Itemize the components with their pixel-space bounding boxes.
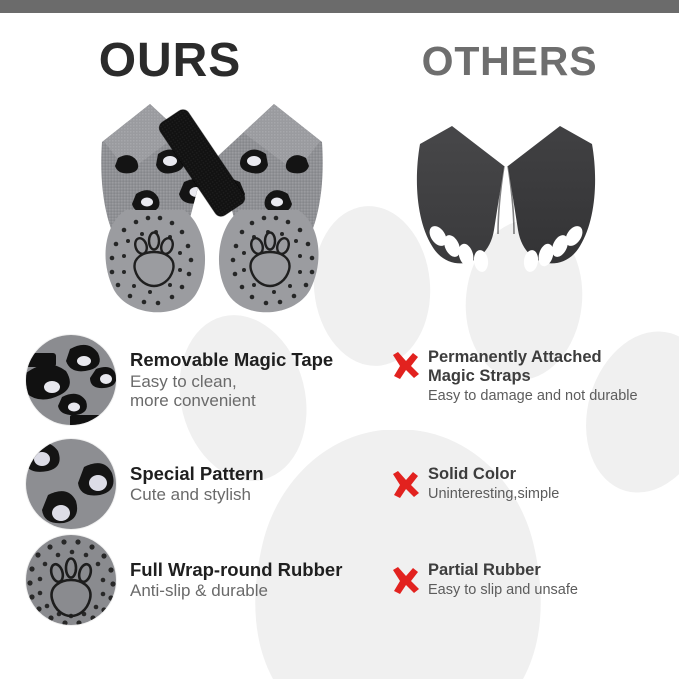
feature-others-text: Solid Color Uninteresting,simple	[428, 465, 559, 504]
feature-ours-subtitle: Cute and stylish	[130, 485, 264, 505]
feature-ours-cell: Full Wrap-round Rubber Anti-slip & durab…	[26, 530, 386, 630]
feature-others-subtitle: Easy to slip and unsafe	[428, 582, 578, 599]
feature-others-subtitle: Easy to damage and not durable	[428, 388, 638, 405]
hero-image-others	[408, 122, 604, 288]
feature-others-title: Partial Rubber	[428, 561, 578, 580]
feature-row: Special Pattern Cute and stylish Solid C…	[0, 434, 679, 530]
feature-row: Removable Magic Tape Easy to clean, more…	[0, 330, 679, 434]
feature-ours-subtitle: Easy to clean, more convenient	[130, 372, 333, 412]
column-headers: OURS OTHERS	[0, 33, 679, 89]
thumb-special-pattern	[26, 439, 116, 529]
header-others: OTHERS	[340, 33, 679, 89]
feature-ours-title: Full Wrap-round Rubber	[130, 559, 342, 581]
red-x-icon	[388, 563, 422, 597]
feature-others-text: Permanently Attached Magic Straps Easy t…	[428, 348, 638, 406]
feature-row: Full Wrap-round Rubber Anti-slip & durab…	[0, 530, 679, 626]
thumb-full-rubber	[26, 535, 116, 625]
feature-ours-title: Removable Magic Tape	[130, 349, 333, 371]
comparison-infographic: OURS OTHERS	[0, 0, 679, 679]
feature-list: Removable Magic Tape Easy to clean, more…	[0, 330, 679, 626]
feature-ours-text: Removable Magic Tape Easy to clean, more…	[130, 349, 333, 412]
feature-ours-text: Full Wrap-round Rubber Anti-slip & durab…	[130, 559, 342, 602]
feature-others-title: Solid Color	[428, 465, 559, 484]
feature-others-cell: Partial Rubber Easy to slip and unsafe	[388, 530, 679, 630]
red-x-icon	[388, 467, 422, 501]
feature-ours-subtitle: Anti-slip & durable	[130, 581, 342, 601]
feature-others-cell: Permanently Attached Magic Straps Easy t…	[388, 330, 679, 448]
feature-ours-text: Special Pattern Cute and stylish	[130, 463, 264, 506]
feature-others-cell: Solid Color Uninteresting,simple	[388, 434, 679, 534]
feature-others-subtitle: Uninteresting,simple	[428, 486, 559, 503]
feature-others-title: Permanently Attached Magic Straps	[428, 348, 638, 386]
thumb-magic-tape	[26, 335, 116, 425]
top-bar	[0, 0, 679, 13]
red-x-icon	[388, 348, 422, 382]
feature-ours-cell: Special Pattern Cute and stylish	[26, 434, 386, 534]
hero-image-ours	[88, 98, 336, 324]
feature-others-text: Partial Rubber Easy to slip and unsafe	[428, 561, 578, 600]
feature-ours-cell: Removable Magic Tape Easy to clean, more…	[26, 330, 386, 430]
header-ours: OURS	[0, 33, 340, 89]
feature-ours-title: Special Pattern	[130, 463, 264, 485]
